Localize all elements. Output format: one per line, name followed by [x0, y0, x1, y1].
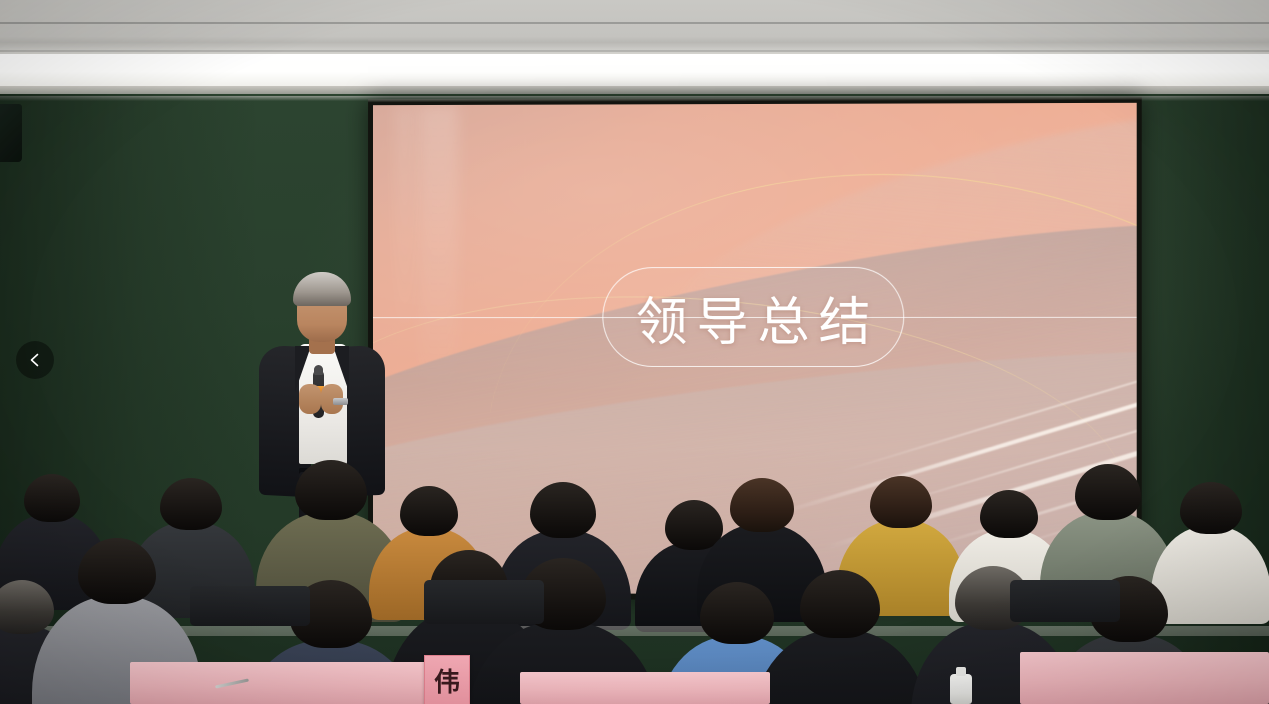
table-surface	[1020, 652, 1269, 704]
ceiling-light-strip	[0, 54, 1269, 86]
previous-image-button[interactable]	[16, 341, 54, 379]
photo-viewer-stage: 领导总结	[0, 0, 1269, 704]
audience	[0, 430, 1269, 704]
audience-member-head	[870, 476, 932, 528]
audience-member-head	[1075, 464, 1141, 520]
name-placard: 伟	[424, 655, 470, 704]
presenter-watch	[333, 398, 348, 405]
chair-back	[190, 586, 310, 626]
table-surface	[130, 662, 430, 704]
chevron-left-icon	[27, 352, 43, 368]
name-placard-text: 伟	[434, 662, 460, 699]
ceiling-seam	[0, 50, 1269, 52]
ceiling	[0, 0, 1269, 96]
audience-member-head	[160, 478, 222, 530]
audience-member-head	[295, 460, 367, 520]
wall-speaker	[0, 104, 22, 162]
audience-member-body	[753, 630, 928, 704]
ceiling-seam	[0, 22, 1269, 24]
audience-member-head	[400, 486, 458, 536]
table-surface	[520, 672, 770, 704]
water-bottle	[950, 674, 972, 704]
audience-member-head	[730, 478, 794, 532]
presenter-hair	[293, 272, 351, 306]
table-edge	[0, 626, 1269, 636]
audience-member-body	[1151, 526, 1269, 624]
audience-member-head	[700, 582, 774, 644]
presenter-hand-left	[299, 384, 321, 414]
audience-member-head	[530, 482, 596, 538]
chair-back	[424, 580, 544, 624]
chair-back	[1010, 580, 1120, 622]
audience-member-head	[980, 490, 1038, 538]
audience-member-head	[1180, 482, 1242, 534]
audience-member-head	[24, 474, 80, 522]
